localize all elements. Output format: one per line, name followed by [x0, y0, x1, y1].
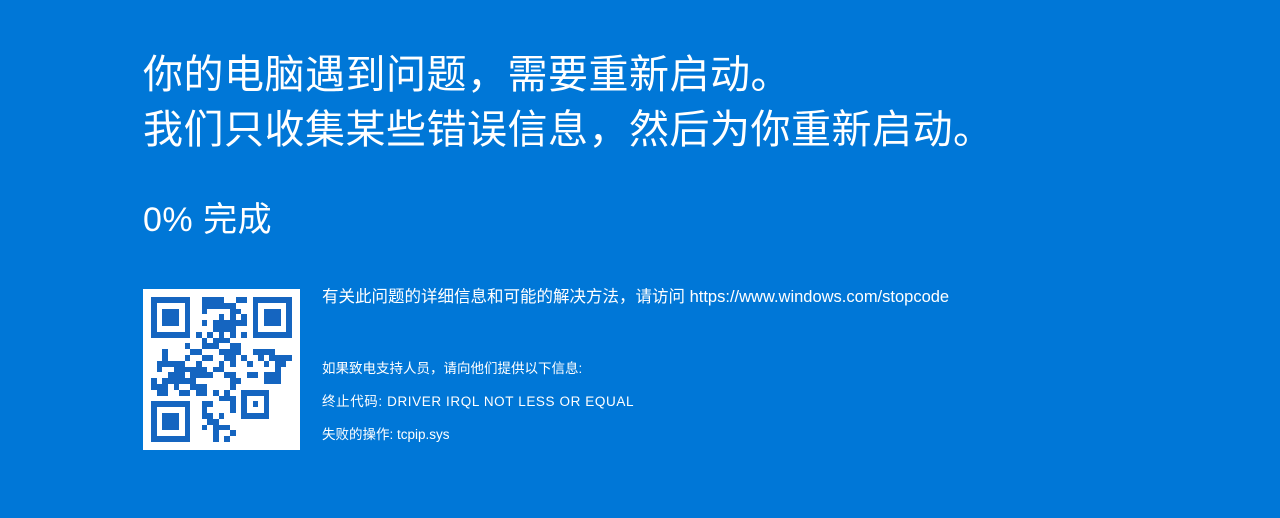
headline-line-2: 我们只收集某些错误信息，然后为你重新启动。 [143, 103, 1143, 158]
progress-status: 0% 完成 [143, 198, 272, 242]
stop-code-line: 终止代码: DRIVER IRQL NOT LESS OR EQUAL [322, 385, 1280, 418]
qr-code-grid [151, 297, 292, 442]
bsod-screen: 你的电脑遇到问题，需要重新启动。 我们只收集某些错误信息，然后为你重新启动。 0… [0, 0, 1280, 518]
support-intro-text: 如果致电支持人员，请向他们提供以下信息: [322, 352, 1280, 385]
qr-code-icon [143, 289, 300, 450]
headline-line-1: 你的电脑遇到问题，需要重新启动。 [143, 48, 1143, 103]
support-info-block: 如果致电支持人员，请向他们提供以下信息: 终止代码: DRIVER IRQL N… [322, 352, 1280, 451]
failed-module-line: 失败的操作: tcpip.sys [322, 418, 1280, 451]
more-info-text: 有关此问题的详细信息和可能的解决方法，请访问 https://www.windo… [322, 286, 1280, 308]
details-text-column: 有关此问题的详细信息和可能的解决方法，请访问 https://www.windo… [322, 286, 1280, 451]
bsod-headline: 你的电脑遇到问题，需要重新启动。 我们只收集某些错误信息，然后为你重新启动。 [143, 48, 1143, 158]
